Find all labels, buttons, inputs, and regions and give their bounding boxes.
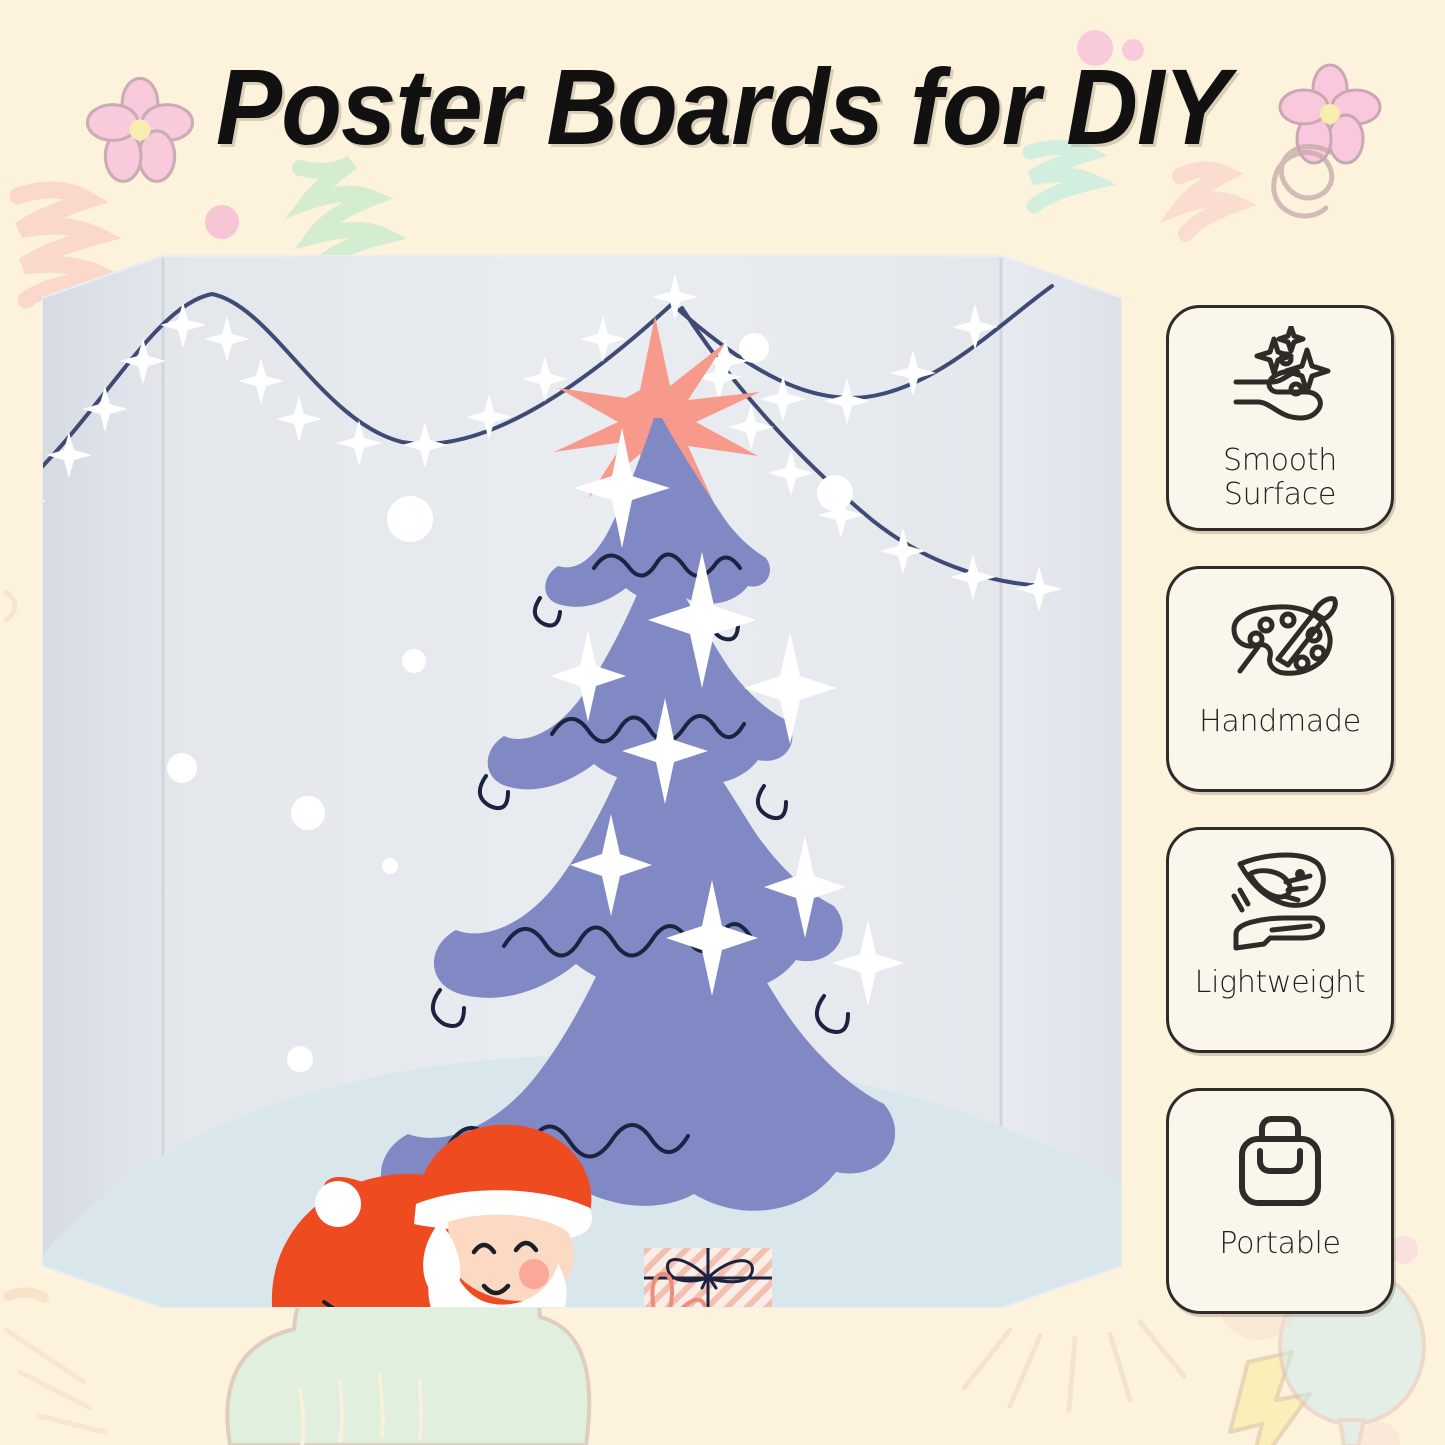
santa-cheek [519, 1259, 549, 1289]
feature-card-label: Portable [1213, 1227, 1346, 1261]
feature-card-label: Handmade [1193, 705, 1367, 739]
santa-hat-pompom [315, 1181, 361, 1227]
dot-doodle [1390, 1236, 1418, 1264]
paint-palette-brush-icon [1214, 587, 1346, 699]
feature-card-lightweight[interactable]: Lightweight [1166, 827, 1394, 1053]
feature-label-line2: Surface [1224, 477, 1336, 512]
feature-cards-list: Smooth Surface Handmade [1166, 305, 1394, 1314]
gift-box-striped [644, 1248, 772, 1308]
feature-label-line1: Smooth [1223, 443, 1337, 478]
dot-doodle [205, 205, 239, 239]
feature-card-handmade[interactable]: Handmade [1166, 566, 1394, 792]
feature-card-label: Smooth Surface [1217, 444, 1343, 511]
scribble-doodle-midleft [8, 1292, 44, 1298]
feature-card-smooth-surface[interactable]: Smooth Surface [1166, 305, 1394, 531]
feature-card-portable[interactable]: Portable [1166, 1088, 1394, 1314]
page-title: Poster Boards for DIY [58, 44, 1387, 169]
briefcase-icon [1214, 1109, 1346, 1221]
feather-on-hand-icon [1214, 848, 1346, 960]
feature-card-label: Lightweight [1189, 966, 1372, 1000]
poster-board-svg [42, 246, 1122, 1308]
sparkle-hand-icon [1214, 326, 1346, 438]
poster-board-illustration [42, 246, 1122, 1308]
